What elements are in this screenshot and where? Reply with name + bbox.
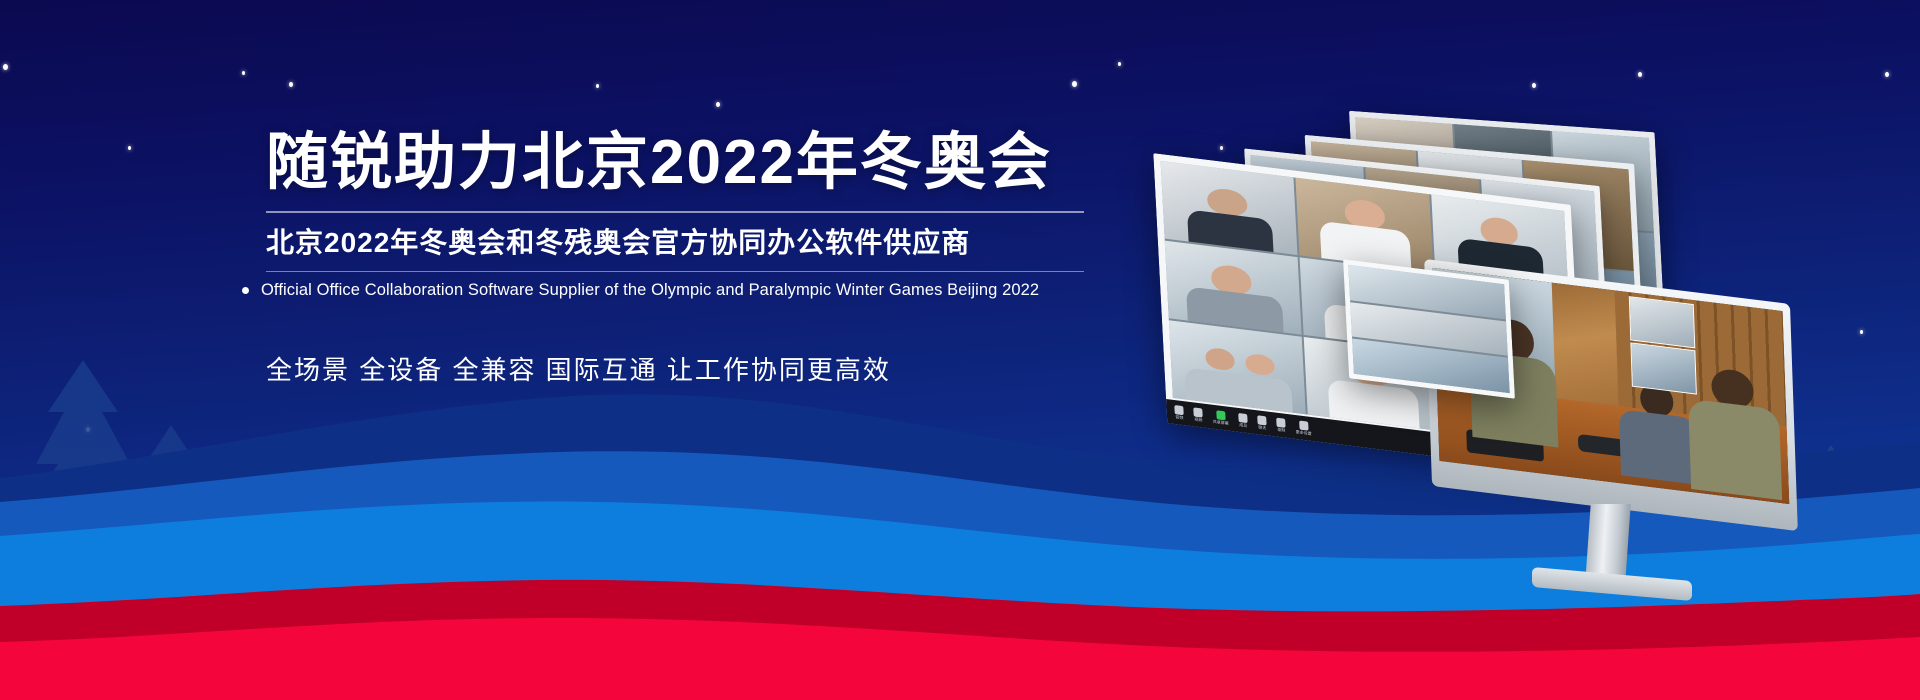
monitor-stand-neck (1585, 504, 1630, 582)
page-title: 随锐助力北京2022年冬奥会 (266, 128, 1116, 197)
video-conference-visual: 音频 视频 共享屏幕 成员 聊天 (1140, 110, 1840, 580)
page-subtitle: 北京2022年冬奥会和冬残奥会官方协同办公软件供应商 (266, 221, 1116, 261)
participant-tile (1161, 161, 1298, 255)
toolbar-label-more: 更多设置 (1296, 429, 1312, 437)
headline-block: 随锐助力北京2022年冬奥会 北京2022年冬奥会和冬残奥会官方协同办公软件供应… (266, 128, 1116, 387)
participant-tile (1296, 178, 1433, 272)
toolbar-item-audio[interactable]: 音频 (1174, 405, 1184, 421)
toolbar-item-video[interactable]: 视频 (1193, 407, 1203, 423)
meeting-participant (1687, 365, 1782, 496)
tagline: 全场景 全设备 全兼容 国际互通 让工作协同更高效 (266, 350, 1116, 387)
toolbar-item-more[interactable]: 更多设置 (1295, 419, 1312, 436)
toolbar-label-video: 视频 (1194, 416, 1203, 423)
toolbar-item-record[interactable]: 录制 (1276, 417, 1286, 433)
olympic-promo-banner: 音频 视频 共享屏幕 成员 聊天 (0, 0, 1920, 700)
title-divider (266, 211, 1084, 213)
english-caption-row: Official Office Collaboration Software S… (266, 281, 1116, 300)
subtitle-divider (266, 271, 1084, 272)
toolbar-label-chat: 聊天 (1258, 424, 1267, 431)
toolbar-label-participants: 成员 (1239, 422, 1248, 429)
participant-tile (1165, 241, 1302, 335)
toolbar-item-participants[interactable]: 成员 (1238, 412, 1248, 428)
toolbar-item-chat[interactable]: 聊天 (1257, 415, 1267, 431)
english-caption: Official Office Collaboration Software S… (261, 281, 1039, 300)
video-grid-1 (1348, 265, 1509, 393)
toolbar-label-record: 录制 (1277, 426, 1286, 433)
meeting-participant (1618, 379, 1698, 481)
toolbar-label-share: 共享屏幕 (1213, 418, 1229, 426)
toolbar-label-audio: 音频 (1175, 414, 1184, 421)
floating-screen-1 (1343, 259, 1515, 398)
toolbar-item-share[interactable]: 共享屏幕 (1212, 409, 1229, 426)
